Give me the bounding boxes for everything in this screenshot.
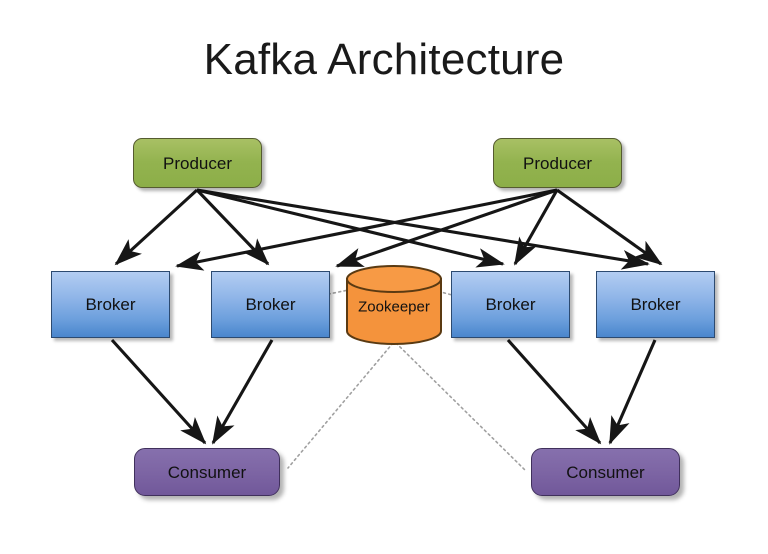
edge-broker1-consumer1 [112,340,205,443]
diagram-canvas: Kafka Architecture [0,0,768,554]
node-broker-2[interactable]: Broker [211,271,330,338]
node-broker-4[interactable]: Broker [596,271,715,338]
producer-to-broker-edges [116,190,661,266]
node-label: Broker [85,296,135,313]
edge-producer2-broker3 [515,190,557,264]
edge-producer1-broker1 [116,190,197,264]
edge-broker4-consumer2 [610,340,655,443]
node-label: Broker [245,296,295,313]
node-label: Broker [630,296,680,313]
node-consumer-1[interactable]: Consumer [134,448,280,496]
node-label: Producer [163,155,232,172]
node-broker-3[interactable]: Broker [451,271,570,338]
edge-broker2-consumer1 [213,340,272,443]
node-zookeeper[interactable]: Zookeeper [345,265,443,345]
edge-zookeeper-consumer1 [288,343,393,468]
edge-zookeeper-consumer2 [396,343,525,470]
node-label: Producer [523,155,592,172]
edge-producer2-broker1 [177,190,557,266]
edge-producer1-broker4 [197,190,648,264]
edge-producer2-broker2 [337,190,557,266]
node-producer-1[interactable]: Producer [133,138,262,188]
node-label: Zookeeper [345,299,443,314]
edge-producer2-broker4 [557,190,661,264]
node-label: Broker [485,296,535,313]
edge-producer1-broker2 [197,190,268,264]
edge-producer1-broker3 [197,190,503,264]
node-producer-2[interactable]: Producer [493,138,622,188]
node-label: Consumer [566,464,644,481]
page-title: Kafka Architecture [0,36,768,84]
broker-to-consumer-edges [112,340,655,443]
node-label: Consumer [168,464,246,481]
node-broker-1[interactable]: Broker [51,271,170,338]
node-consumer-2[interactable]: Consumer [531,448,680,496]
edge-broker3-consumer2 [508,340,600,443]
